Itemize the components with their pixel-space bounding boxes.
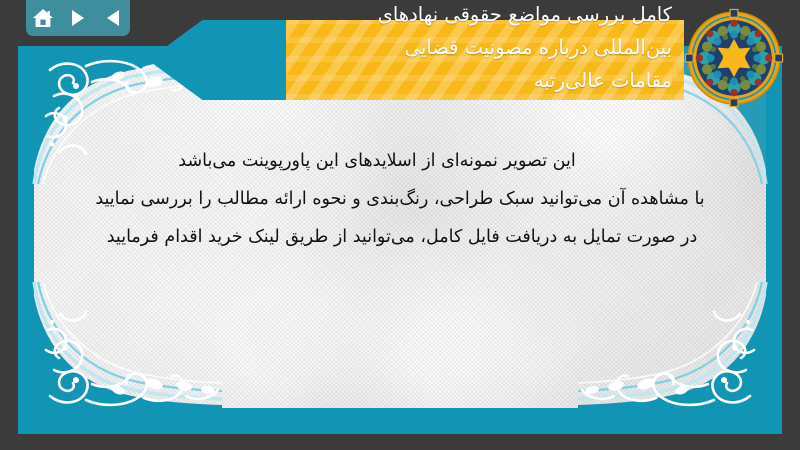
home-button[interactable] xyxy=(30,5,56,31)
navigation-toolbar xyxy=(26,0,130,36)
home-icon xyxy=(32,8,54,28)
right-triangle-icon xyxy=(70,9,86,27)
body-line: در صورت تمایل به دریافت فایل کامل، می‌تو… xyxy=(48,218,756,256)
previous-button[interactable] xyxy=(100,5,126,31)
body-line: با مشاهده آن می‌توانید سبک طراحی، رنگ‌بن… xyxy=(48,180,752,218)
page-title: کامل بررسی مواضع حقوقی نهادهای بین‌الملل… xyxy=(242,0,672,97)
body-line: این تصویر نمونه‌ای از اسلایدهای این پاور… xyxy=(48,142,706,180)
slide-body-text: این تصویر نمونه‌ای از اسلایدهای این پاور… xyxy=(48,142,752,256)
left-triangle-icon xyxy=(105,9,121,27)
persian-mandala-medallion xyxy=(682,2,786,114)
next-button[interactable] xyxy=(65,5,91,31)
slide-viewer: این تصویر نمونه‌ای از اسلایدهای این پاور… xyxy=(0,0,800,450)
